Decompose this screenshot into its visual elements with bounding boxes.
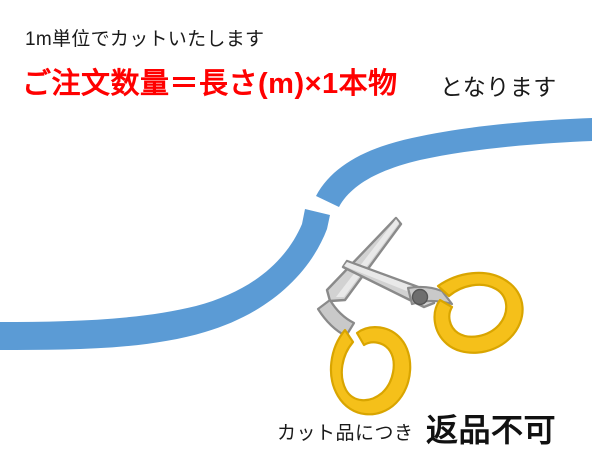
scissors-pivot-icon	[413, 290, 428, 305]
scissors-handle-right	[435, 273, 523, 353]
scissors-handle-lower	[331, 327, 410, 414]
scissors-shank-lower	[318, 300, 354, 336]
cut-unit-note: 1m単位でカットいたします	[25, 30, 264, 49]
order-formula-suffix: となります	[440, 76, 557, 99]
no-return-prefix: カット品につき	[277, 424, 414, 443]
order-formula-text: ご注文数量＝長さ(m)×1本物	[22, 70, 398, 99]
no-return-label: 返品不可	[426, 414, 556, 446]
promo-banner: 1m単位でカットいたします ご注文数量＝長さ(m)×1本物 となります カット品…	[0, 0, 600, 466]
